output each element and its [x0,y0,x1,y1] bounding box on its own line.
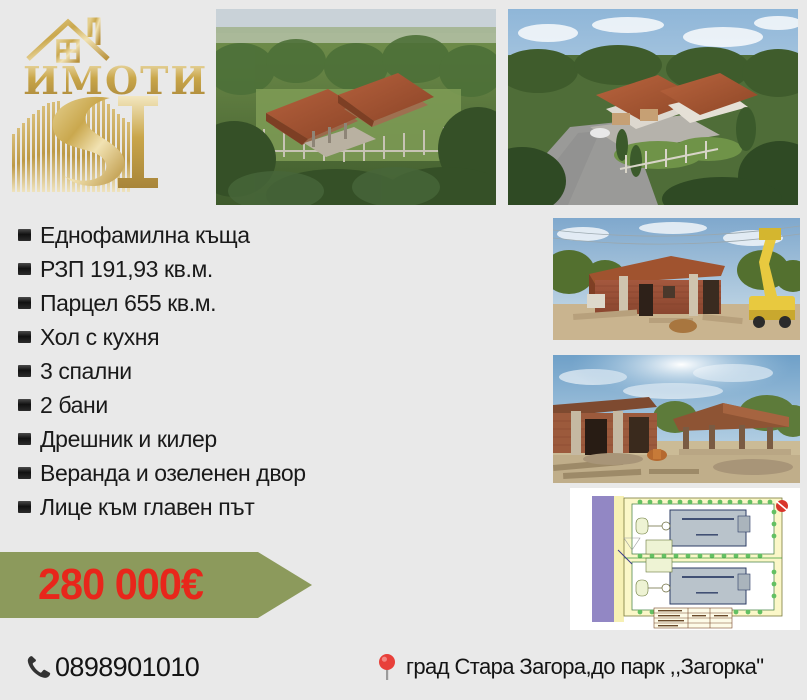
contact-phone[interactable]: 0898901010 [24,652,199,682]
photo-siteplan[interactable] [570,488,800,630]
black-square-bullet-icon [18,263,31,275]
list-item: Веранда и озеленен двор [18,460,438,488]
feature-label: Лице към главен път [40,494,254,520]
photo-construction-2[interactable] [553,355,800,483]
black-square-bullet-icon [18,229,31,241]
price-amount: 280 000€ [38,563,203,607]
feature-label: 2 бани [40,392,108,418]
black-square-bullet-icon [18,297,31,309]
black-square-bullet-icon [18,399,31,411]
black-square-bullet-icon [18,331,31,343]
photo-aerial-2[interactable] [508,9,798,205]
location-pin-icon [376,653,398,681]
price-banner: 280 000€ [0,552,312,618]
real-estate-ad: ИМОТИ [0,0,807,700]
list-item: 2 бани [18,392,438,420]
black-square-bullet-icon [18,365,31,377]
feature-label: Дрешник и килер [40,426,217,452]
feature-label: Парцел 655 кв.м. [40,290,216,316]
feature-list: Еднофамилна къща РЗП 191,93 кв.м. Парцел… [18,222,438,528]
location-text: град Стара Загора,до парк ,,Загорка" [406,652,763,682]
photo-aerial-1[interactable] [216,9,496,205]
list-item: Дрешник и килер [18,426,438,454]
house-roof-icon [28,14,156,59]
photo-construction-1[interactable] [553,218,800,340]
black-square-bullet-icon [18,467,31,479]
list-item: Хол с кухня [18,324,438,352]
black-square-bullet-icon [18,433,31,445]
feature-label: РЗП 191,93 кв.м. [40,256,213,282]
feature-label: 3 спални [40,358,132,384]
list-item: РЗП 191,93 кв.м. [18,256,438,284]
list-item: Лице към главен път [18,494,438,522]
feature-label: Еднофамилна къща [40,222,250,248]
contact-location: град Стара Загора,до парк ,,Загорка" [376,652,763,682]
phone-icon [24,652,54,682]
phone-number: 0898901010 [55,652,199,682]
list-item: 3 спални [18,358,438,386]
north-arrow-icon [776,500,788,512]
list-item: Еднофамилна къща [18,222,438,250]
feature-label: Веранда и озеленен двор [40,460,306,486]
feature-label: Хол с кухня [40,324,159,350]
black-square-bullet-icon [18,501,31,513]
list-item: Парцел 655 кв.м. [18,290,438,318]
svg-text:ИМОТИ: ИМОТИ [23,58,206,103]
imoti-si-logo: ИМОТИ [6,6,206,206]
